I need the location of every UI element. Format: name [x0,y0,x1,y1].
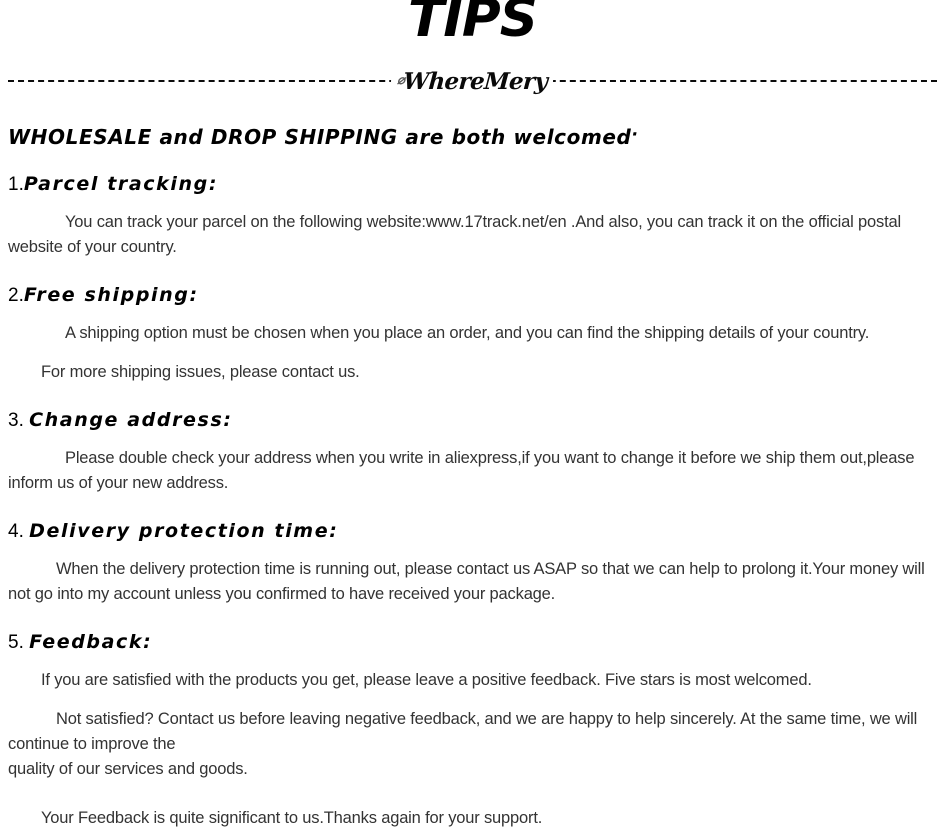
section-heading: 2.Free shipping: [8,284,937,307]
tips-content: WHOLESALE and DROP SHIPPING are both wel… [0,125,945,831]
section-number: 3. [8,410,24,431]
section-parcel-tracking: 1.Parcel tracking: You can track your pa… [8,173,937,260]
section-heading: 1.Parcel tracking: [8,173,937,196]
wholesale-notice-text: WHOLESALE and DROP SHIPPING are both wel… [8,125,631,149]
section-free-shipping: 2.Free shipping: A shipping option must … [8,284,937,385]
section-paragraph: When the delivery protection time is run… [8,557,937,607]
section-number: 2. [8,285,24,306]
section-paragraph: For more shipping issues, please contact… [8,360,937,385]
section-paragraph: If you are satisfied with the products y… [8,668,937,693]
section-number: 1. [8,174,24,195]
section-heading: 3. Change address: [8,409,937,432]
section-number: 4. [8,521,24,542]
section-title: Free shipping: [24,284,199,306]
section-change-address: 3. Change address: Please double check y… [8,409,937,496]
brand-label: WhereMery [403,68,549,95]
section-title: Change address: [29,409,232,431]
section-title: Parcel tracking: [24,173,218,195]
section-heading: 5. Feedback: [8,631,937,654]
wholesale-notice: WHOLESALE and DROP SHIPPING are both wel… [8,125,937,149]
section-paragraph: Please double check your address when yo… [8,446,937,496]
brand-divider: ⌀WhereMery [0,64,945,98]
section-paragraph: You can track your parcel on the followi… [8,210,937,260]
page-title: TIPS [0,0,945,47]
section-heading: 4. Delivery protection time: [8,520,937,543]
section-delivery-protection-time: 4. Delivery protection time: When the de… [8,520,937,607]
section-title: Delivery protection time: [29,520,338,542]
section-paragraph: Not satisfied? Contact us before leaving… [8,707,937,757]
brand-logo: ⌀WhereMery [390,64,555,99]
brand-wrapper: ⌀WhereMery [0,64,945,102]
section-title: Feedback: [29,631,152,653]
section-paragraph: A shipping option must be chosen when yo… [8,321,937,346]
page-header: TIPS ⌀WhereMery [0,0,945,100]
wholesale-notice-endmark: · [631,125,638,145]
section-feedback: 5. Feedback: If you are satisfied with t… [8,631,937,831]
section-number: 5. [8,632,24,653]
section-paragraph: Your Feedback is quite significant to us… [8,806,937,831]
section-paragraph: quality of our services and goods. [8,757,937,782]
tips-page: { "header": { "title": "TIPS", "brand_or… [0,0,945,794]
